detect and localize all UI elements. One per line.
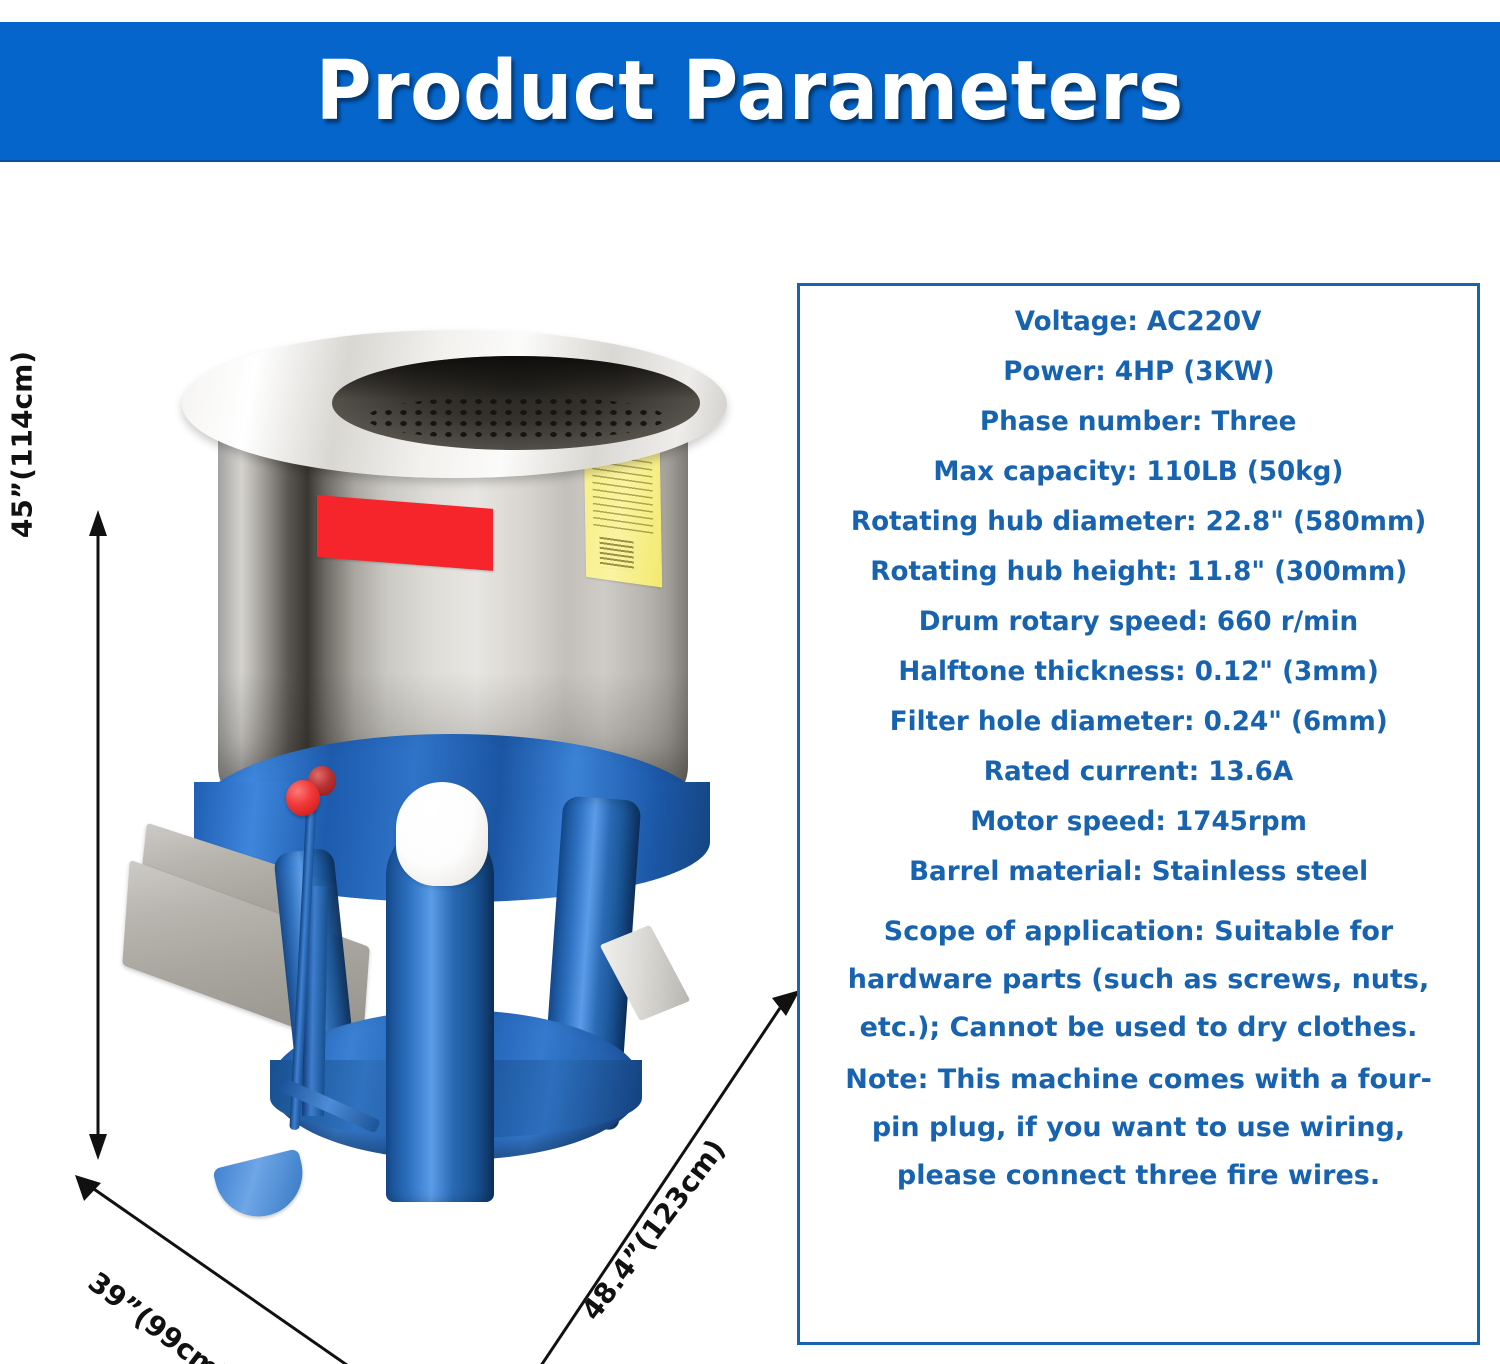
dimension-line-height	[86, 510, 110, 1160]
parameter-motor-speed: Motor speed: 1745rpm	[970, 808, 1307, 835]
white-motor-cap	[396, 782, 488, 886]
page-title: Product Parameters	[316, 44, 1184, 139]
product-parameters-page: Product Parameters	[0, 0, 1500, 1364]
product-photo-region: 45”(114cm) 39”(99cm) 48.4”(123cm)	[0, 170, 790, 1364]
drum-top-rim	[182, 330, 727, 478]
dimension-line-depth-right	[470, 990, 800, 1364]
parameter-phase-number: Phase number: Three	[980, 408, 1297, 435]
header-banner: Product Parameters	[0, 22, 1500, 162]
red-brake-lever-knob	[286, 780, 320, 816]
perforated-basket	[366, 396, 666, 440]
parameter-barrel-material: Barrel material: Stainless steel	[909, 858, 1368, 885]
parameter-filter-hole-diameter: Filter hole diameter: 0.24" (6mm)	[889, 708, 1387, 735]
parameter-power: Power: 4HP (3KW)	[1003, 358, 1274, 385]
parameter-hub-diameter: Rotating hub diameter: 22.8" (580mm)	[851, 508, 1426, 535]
parameters-panel: Voltage: AC220V Power: 4HP (3KW) Phase n…	[797, 283, 1480, 1345]
parameter-drum-rotary-speed: Drum rotary speed: 660 r/min	[919, 608, 1358, 635]
parameter-note: Note: This machine comes with a four-pin…	[829, 1056, 1449, 1200]
dimension-label-height: 45”(114cm)	[6, 335, 39, 555]
parameter-scope-of-application: Scope of application: Suitable for hardw…	[829, 908, 1449, 1052]
drum-opening	[332, 356, 700, 450]
drum-opening-shadow	[332, 356, 700, 399]
parameter-max-capacity: Max capacity: 110LB (50kg)	[933, 458, 1343, 485]
parameter-hub-height: Rotating hub height: 11.8" (300mm)	[870, 558, 1407, 585]
parameter-voltage: Voltage: AC220V	[1015, 308, 1262, 335]
parameter-halftone-thickness: Halftone thickness: 0.12" (3mm)	[898, 658, 1378, 685]
dimension-line-depth-left	[75, 1175, 475, 1364]
parameter-rated-current: Rated current: 13.6A	[984, 758, 1293, 785]
